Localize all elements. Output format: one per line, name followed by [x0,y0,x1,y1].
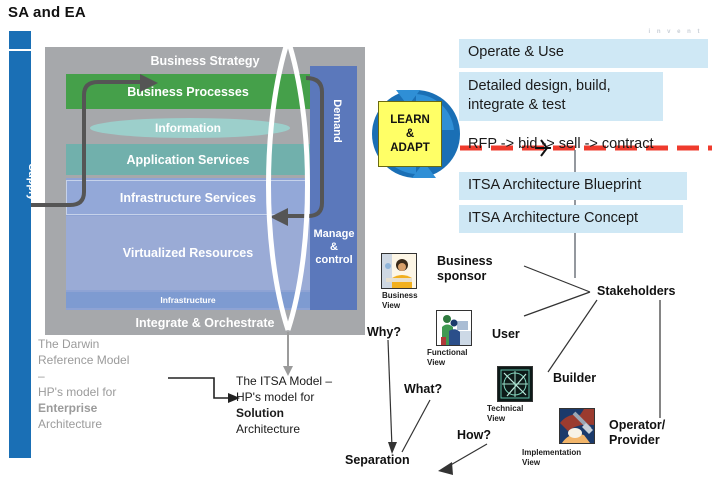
stakeholder-business-sponsor: Business sponsor [437,254,517,284]
page-title: SA and EA [8,4,86,21]
functional-view-caption-l2: View [427,358,445,367]
supply-label: Supply [16,152,38,212]
darwin-caption-line-6: Architecture [38,416,158,432]
lifecycle-item-itsa-concept[interactable]: ITSA Architecture Concept [459,205,683,233]
implementation-view-caption: Implementation View [522,448,600,467]
technical-view-caption: Technical View [487,404,535,423]
itsa-model-caption: The ITSA Model – HP's model for Solution… [236,373,356,437]
business-view-caption: Business View [382,291,428,310]
darwin-caption-line-5: Enterprise [38,400,158,416]
sponsor-line-2: sponsor [437,269,486,283]
business-view-caption-l2: View [382,301,400,310]
technical-view-caption-l2: View [487,414,505,423]
band-infrastructure: Infrastructure [66,292,310,308]
demand-column: Demand Manage& control [310,66,357,310]
technical-view-caption-l1: Technical [487,404,523,413]
darwin-caption-line-4: HP's model for [38,384,158,400]
itsa-caption-line-1: The ITSA Model – [236,373,356,389]
stakeholders-heading: Stakeholders [597,284,676,299]
question-how: How? [457,428,491,443]
sponsor-line-1: Business [437,254,493,268]
business-view-caption-l1: Business [382,291,418,300]
band-virtualized-resources: Virtualized Resources [66,216,310,290]
darwin-model-caption: The Darwin Reference Model – HP's model … [38,336,158,432]
operator-line-1: Operator/ [609,418,665,432]
stakeholder-operator-provider: Operator/ Provider [609,418,671,448]
functional-view-icon[interactable] [436,310,472,346]
implementation-view-caption-l1: Implementation [522,448,581,457]
functional-view-caption-l1: Functional [427,348,467,357]
question-what: What? [404,382,442,397]
supply-bar: Supply [9,51,31,458]
darwin-caption-line-3: – [38,368,158,384]
stakeholder-user: User [492,327,520,342]
functional-view-caption: Functional View [427,348,481,367]
learn-line-1: LEARN [390,113,430,127]
hp-invent-tagline: i n v e n t [648,29,702,35]
technical-view-icon[interactable] [497,366,533,402]
learn-line-2: & [406,127,414,141]
band-infrastructure-services: Infrastructure Services [66,180,310,215]
hp-logo-square-top [9,31,31,49]
band-information: Information [66,117,310,139]
stakeholder-builder: Builder [553,371,596,386]
implementation-view-icon[interactable] [559,408,595,444]
band-business-processes: Business Processes [66,74,310,109]
lifecycle-item-itsa-blueprint[interactable]: ITSA Architecture Blueprint [459,172,687,200]
band-application-services: Application Services [66,144,310,175]
itsa-caption-line-2: HP's model for [236,389,356,405]
separation-label: Separation [345,453,410,468]
learn-adapt-label: LEARN & ADAPT [378,101,442,167]
itsa-caption-line-3: Solution [236,405,356,421]
business-view-icon[interactable] [381,253,417,289]
operator-line-2: Provider [609,433,660,447]
lifecycle-item-operate-use[interactable]: Operate & Use [459,39,708,68]
manage-control-label: Manage& control [312,228,356,267]
question-why: Why? [367,325,401,340]
implementation-view-caption-l2: View [522,458,540,467]
band-integrate-orchestrate: Integrate & Orchestrate [45,313,365,333]
lifecycle-item-detailed-design[interactable]: Detailed design, build, integrate & test [459,72,663,121]
darwin-caption-line-1: The Darwin [38,336,158,352]
demand-label: Demand [325,73,343,169]
itsa-caption-line-4: Architecture [236,421,356,437]
darwin-caption-line-2: Reference Model [38,352,158,368]
learn-line-3: ADAPT [390,141,430,155]
